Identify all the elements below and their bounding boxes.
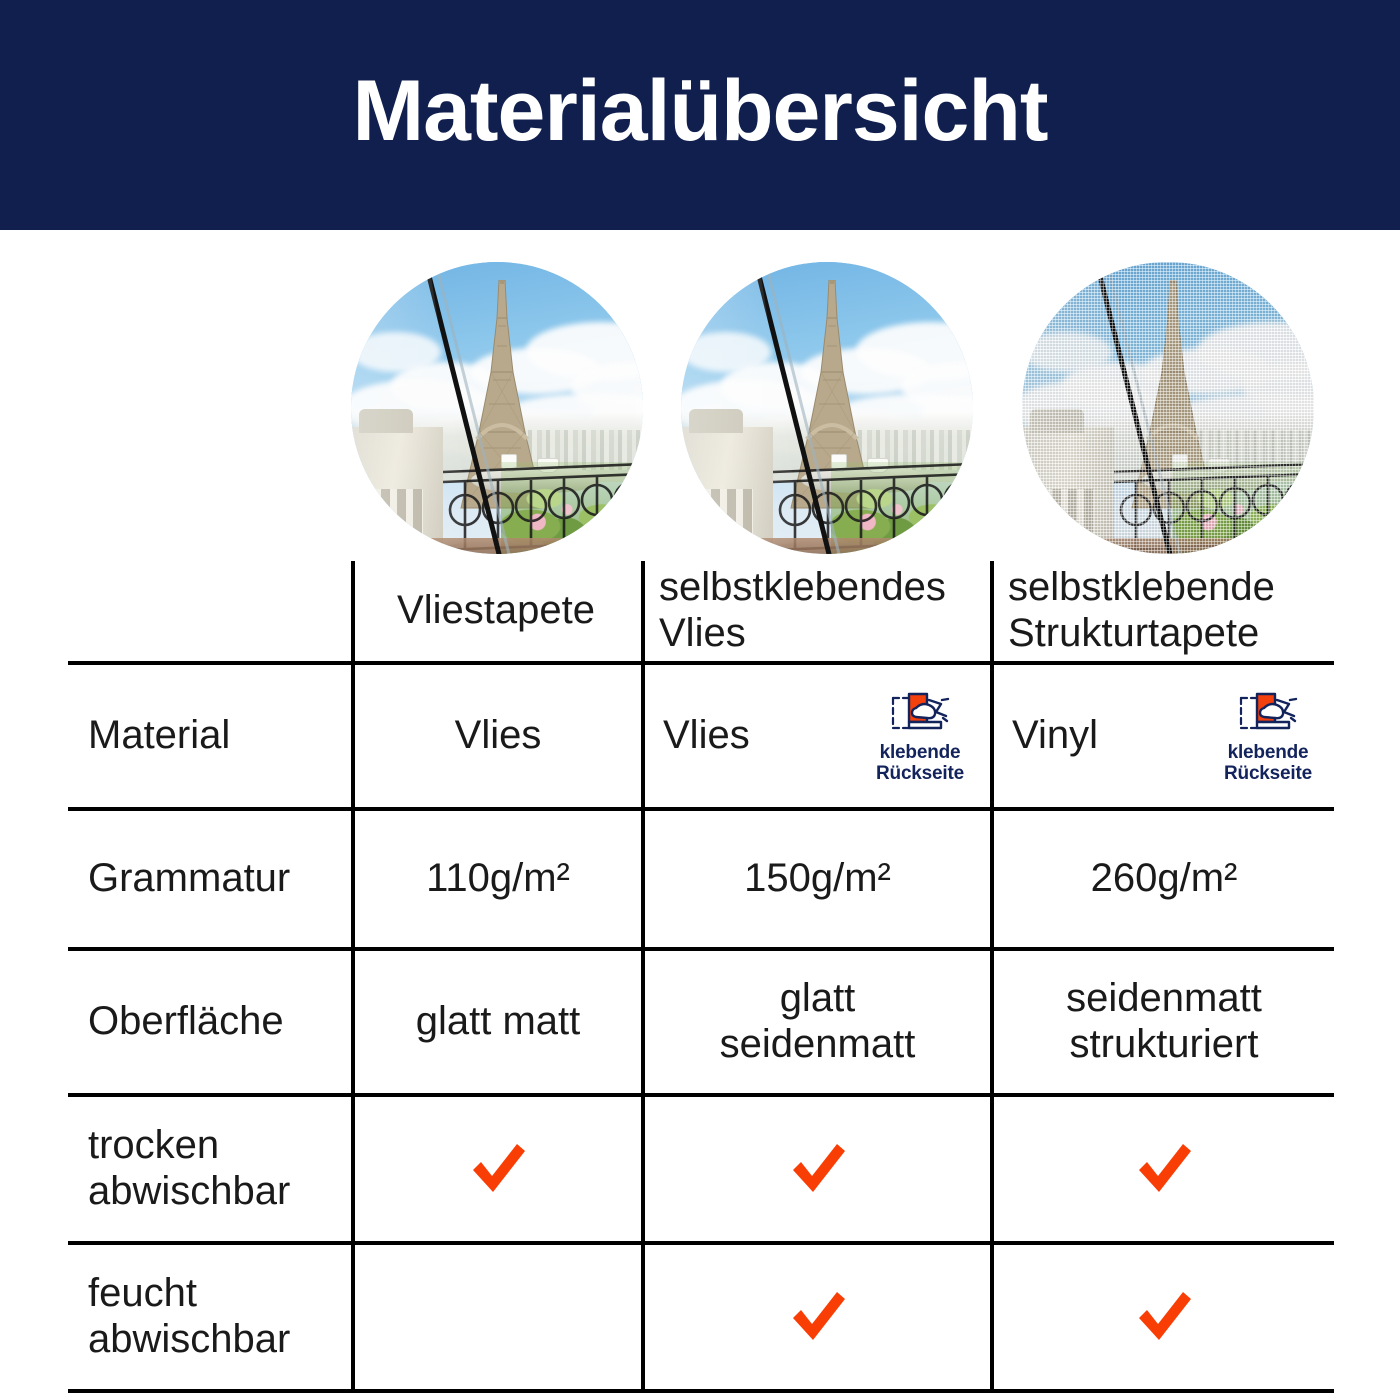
cell-feucht-selbstklebendes-vlies	[645, 1245, 990, 1389]
paris-balcony-scene	[1022, 262, 1314, 554]
cell-value: Vlies	[455, 713, 542, 759]
row-label-line-2: abwischbar	[88, 1169, 290, 1213]
adhesive-badge-label: klebende Rückseite	[1224, 742, 1312, 785]
checkmark-icon	[787, 1288, 849, 1346]
checkmark-icon	[467, 1140, 529, 1198]
row-label: Material	[88, 713, 230, 759]
row-label-line-1: feucht	[88, 1271, 197, 1315]
material-preview-row	[0, 255, 1400, 555]
cell-trocken-strukturtapete	[994, 1097, 1334, 1241]
cell-oberflaeche-selbstklebendes-vlies: glatt seidenmatt	[645, 951, 990, 1093]
cell-grammatur-vliestapete: 110g/m²	[355, 811, 641, 947]
checkmark-icon	[1133, 1288, 1195, 1346]
cell-value: glatt seidenmatt	[720, 976, 916, 1067]
badge-line-2: Rückseite	[876, 763, 964, 784]
header-line-1: selbstklebende	[1008, 565, 1275, 609]
header-line-2: Vlies	[659, 611, 746, 655]
preview-circle-vliestapete	[351, 262, 643, 554]
cell-oberflaeche-strukturtapete: seidenmatt strukturiert	[994, 951, 1334, 1093]
page-header-banner: Materialübersicht	[0, 0, 1400, 230]
column-header-label: selbstklebendes Vlies	[659, 565, 946, 656]
peel-adhesive-backing-icon	[889, 688, 951, 740]
column-header-strukturtapete: selbstklebende Strukturtapete	[994, 561, 1334, 661]
column-header-label: Vliestapete	[397, 588, 595, 634]
checkmark-icon	[1133, 1140, 1195, 1198]
cell-value: glatt matt	[416, 999, 581, 1045]
cell-material-strukturtapete: Vinyl klebende Rückseite	[994, 665, 1334, 807]
cell-value: Vinyl	[1012, 713, 1098, 759]
preview-circle-strukturtapete	[1022, 262, 1314, 554]
row-label-line-2: abwischbar	[88, 1317, 290, 1361]
row-label-grammatur: Grammatur	[68, 811, 351, 947]
row-label: trocken abwischbar	[88, 1123, 290, 1214]
cell-material-vliestapete: Vlies	[355, 665, 641, 807]
cell-value: 150g/m²	[744, 856, 891, 902]
column-header-vliestapete: Vliestapete	[351, 561, 641, 661]
cell-oberflaeche-vliestapete: glatt matt	[355, 951, 641, 1093]
paris-balcony-scene	[351, 262, 643, 554]
cell-trocken-vliestapete	[355, 1097, 641, 1241]
value-line-2: strukturiert	[1070, 1022, 1259, 1066]
cell-trocken-selbstklebendes-vlies	[645, 1097, 990, 1241]
column-header-selbstklebendes-vlies: selbstklebendes Vlies	[645, 561, 990, 661]
value-line-2: seidenmatt	[720, 1022, 916, 1066]
row-label-line-1: trocken	[88, 1123, 219, 1167]
wallpaper-texture-overlay	[1022, 262, 1314, 554]
badge-line-1: klebende	[880, 742, 961, 763]
adhesive-backing-badge: klebende Rückseite	[856, 688, 984, 785]
row-label: Oberfläche	[88, 999, 284, 1045]
cell-grammatur-selbstklebendes-vlies: 150g/m²	[645, 811, 990, 947]
cell-value: Vlies	[663, 713, 750, 759]
peel-adhesive-backing-icon	[1237, 688, 1299, 740]
row-label-feucht-abwischbar: feucht abwischbar	[68, 1245, 351, 1389]
cell-grammatur-strukturtapete: 260g/m²	[994, 811, 1334, 947]
badge-line-1: klebende	[1228, 742, 1309, 763]
checkmark-icon	[787, 1140, 849, 1198]
cell-value: 110g/m²	[426, 856, 570, 902]
preview-circle-selbstklebendes-vlies	[681, 262, 973, 554]
material-comparison-table: Vliestapete selbstklebendes Vlies selbst…	[68, 555, 1334, 1393]
value-line-1: glatt	[780, 976, 856, 1020]
header-line-2: Strukturtapete	[1008, 611, 1259, 655]
cell-material-selbstklebendes-vlies: Vlies klebende Rückseite	[645, 665, 990, 807]
cell-value: seidenmatt strukturiert	[1066, 976, 1262, 1067]
adhesive-backing-badge: klebende Rückseite	[1204, 688, 1332, 785]
header-line-1: selbstklebendes	[659, 565, 946, 609]
value-line-1: seidenmatt	[1066, 976, 1262, 1020]
paris-balcony-scene	[681, 262, 973, 554]
row-label-material: Material	[68, 665, 351, 807]
row-label-oberflaeche: Oberfläche	[68, 951, 351, 1093]
cell-value: 260g/m²	[1091, 856, 1238, 902]
table-rule	[68, 1389, 1334, 1393]
page-title: Materialübersicht	[352, 68, 1047, 162]
row-label: Grammatur	[88, 856, 290, 902]
cell-feucht-strukturtapete	[994, 1245, 1334, 1389]
column-header-label: selbstklebende Strukturtapete	[1008, 565, 1275, 656]
row-label: feucht abwischbar	[88, 1271, 290, 1362]
cell-feucht-vliestapete	[355, 1245, 641, 1389]
adhesive-badge-label: klebende Rückseite	[876, 742, 964, 785]
badge-line-2: Rückseite	[1224, 763, 1312, 784]
row-label-trocken-abwischbar: trocken abwischbar	[68, 1097, 351, 1241]
